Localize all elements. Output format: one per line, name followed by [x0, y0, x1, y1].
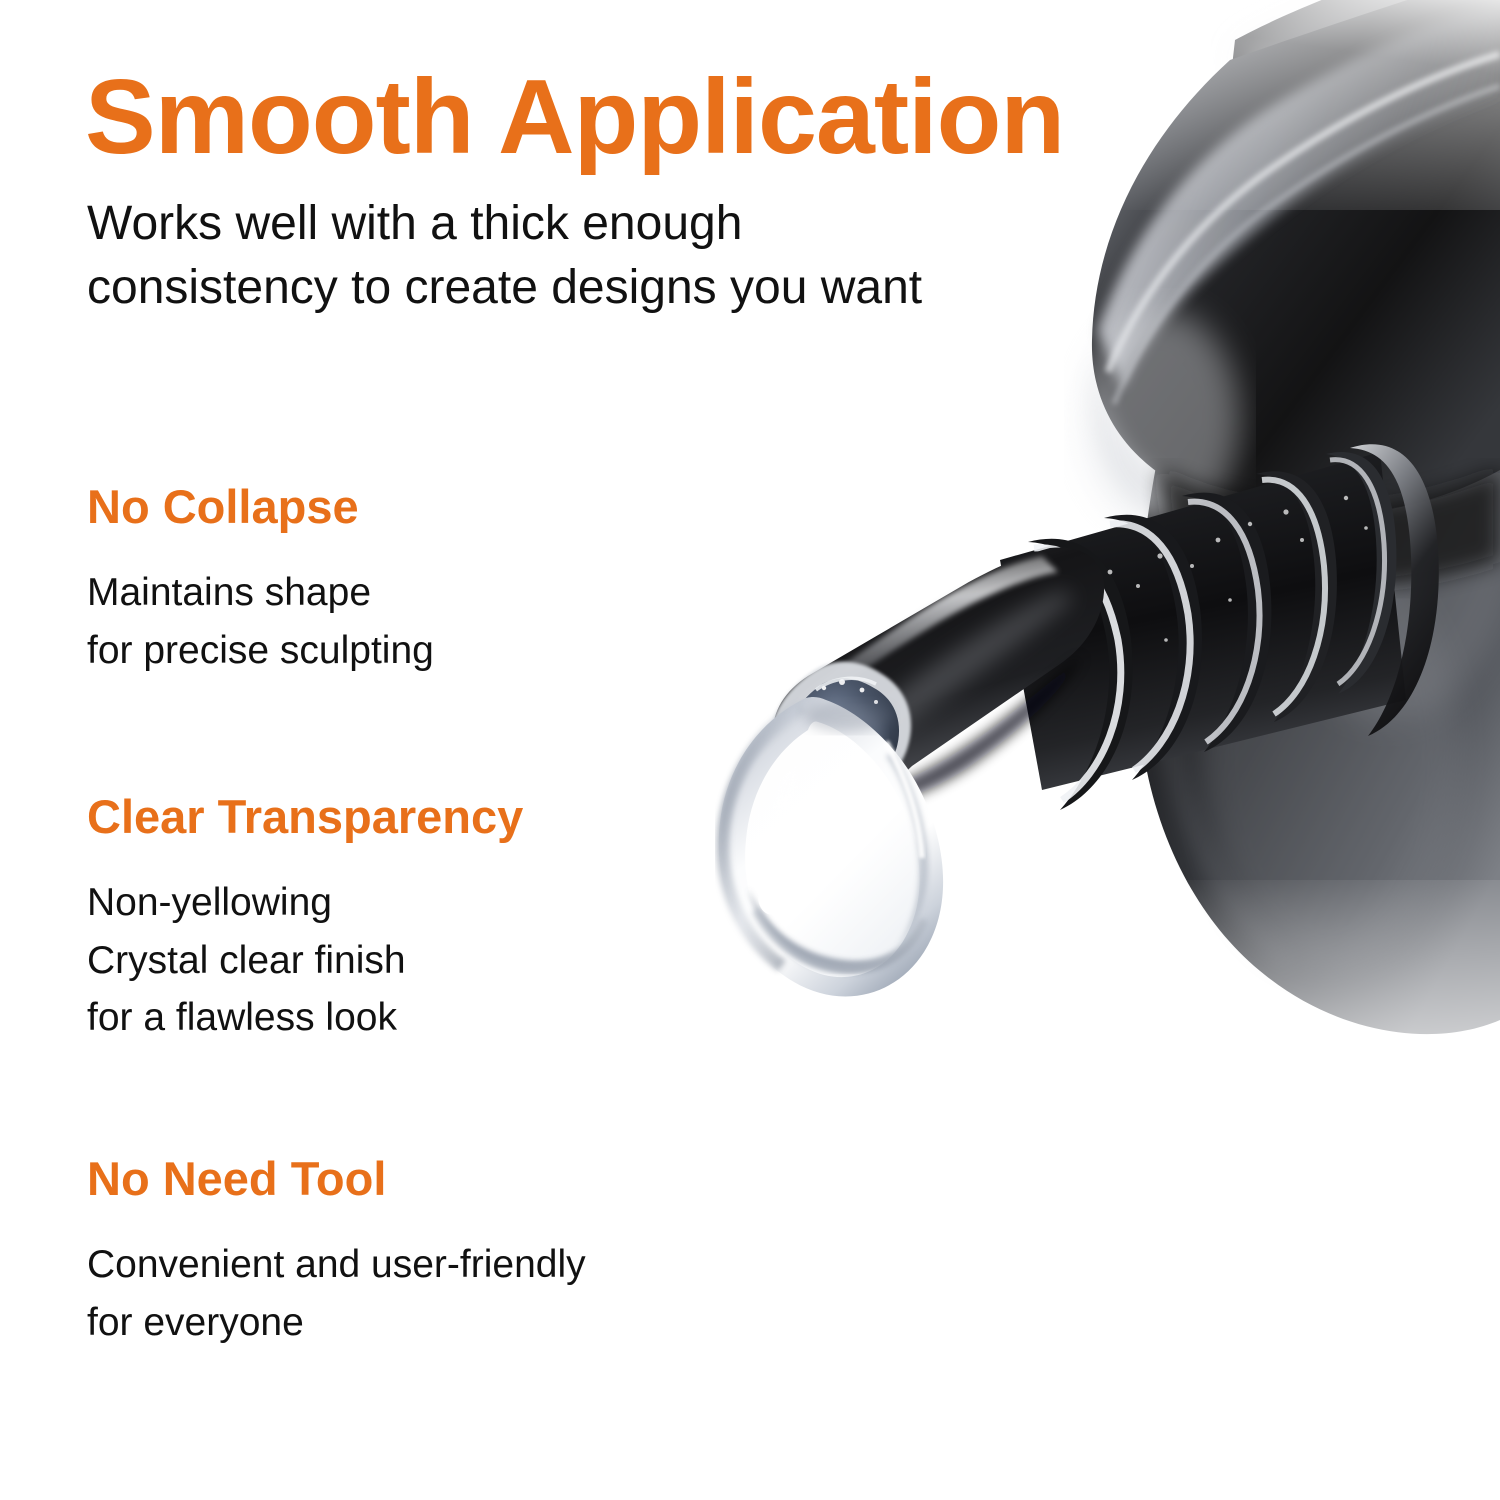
copy-column: Smooth Application Works well with a thi…	[85, 0, 1045, 1500]
feature-block-no-collapse: No Collapse Maintains shape for precise …	[87, 480, 987, 679]
feature-body: Maintains shape for precise sculpting	[87, 564, 987, 679]
feature-title: Clear Transparency	[87, 790, 987, 844]
bottom-fade	[1030, 880, 1500, 1180]
page-title: Smooth Application	[85, 62, 1064, 173]
feature-title: No Need Tool	[87, 1152, 987, 1206]
top-fade	[1070, 0, 1500, 210]
feature-body: Non-yellowing Crystal clear finish for a…	[87, 874, 987, 1047]
product-feature-poster: Smooth Application Works well with a thi…	[0, 0, 1500, 1500]
feature-block-no-need-tool: No Need Tool Convenient and user-friendl…	[87, 1152, 987, 1351]
feature-title: No Collapse	[87, 480, 987, 534]
subtitle-text: Works well with a thick enough consisten…	[87, 192, 947, 321]
feature-block-clear-transparency: Clear Transparency Non-yellowing Crystal…	[87, 790, 987, 1047]
feature-body: Convenient and user-friendly for everyon…	[87, 1236, 987, 1351]
